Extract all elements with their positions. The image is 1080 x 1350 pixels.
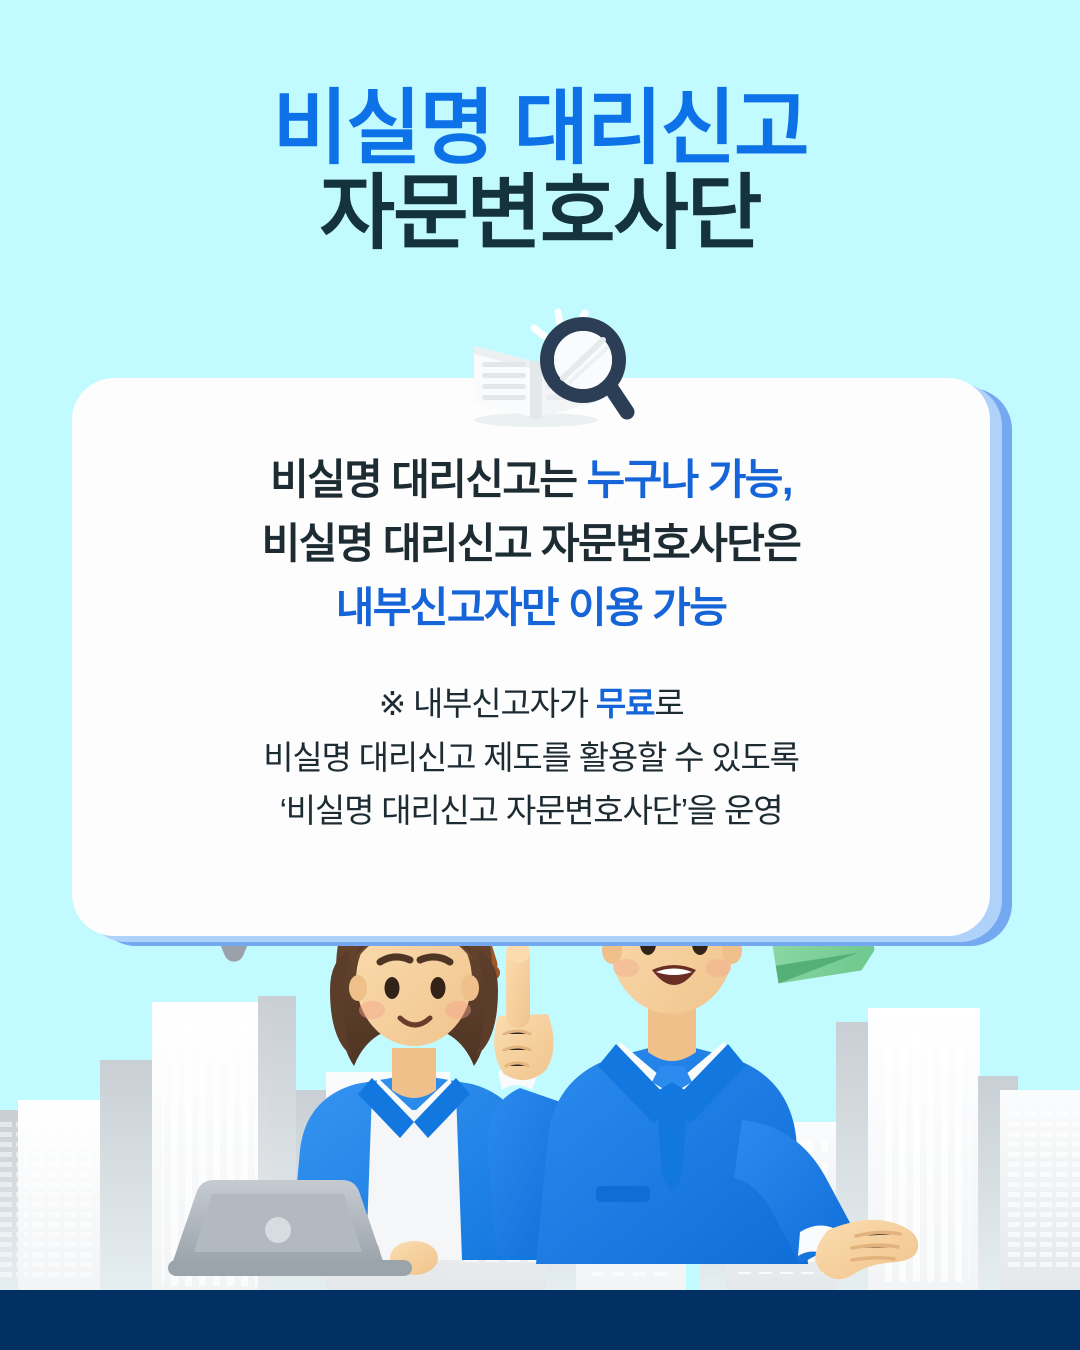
lead-line-1-plain: 비실명 대리신고는: [270, 456, 586, 503]
poster-canvas: 비실명 대리신고 자문변호사단: [0, 0, 1080, 1350]
card-note-text: ※ 내부신고자가 무료로 비실명 대리신고 제도를 활용할 수 있도록 ‘비실명…: [263, 677, 799, 837]
note-line-1-post: 로: [654, 685, 683, 722]
note-line-2: 비실명 대리신고 제도를 활용할 수 있도록: [263, 731, 799, 784]
bottom-navy-bar: [0, 1290, 1080, 1350]
note-line-1-accent: 무료: [596, 685, 654, 722]
lead-line-1: 비실명 대리신고는 누구나 가능,: [262, 448, 801, 512]
note-line-1: ※ 내부신고자가 무료로: [263, 677, 799, 730]
book-magnifier-icon: [452, 300, 648, 430]
note-line-1-pre: ※ 내부신고자가: [379, 685, 596, 722]
note-line-3: ‘비실명 대리신고 자문변호사단’을 운영: [263, 784, 799, 837]
info-card-wrapper: 비실명 대리신고는 누구나 가능, 비실명 대리신고 자문변호사단은 내부신고자…: [72, 378, 1012, 946]
title-line-1: 비실명 대리신고: [0, 88, 1080, 169]
lead-line-3: 내부신고자만 이용 가능: [262, 576, 801, 640]
info-card: 비실명 대리신고는 누구나 가능, 비실명 대리신고 자문변호사단은 내부신고자…: [72, 378, 990, 936]
lead-line-2: 비실명 대리신고 자문변호사단은: [262, 512, 801, 576]
card-lead-text: 비실명 대리신고는 누구나 가능, 비실명 대리신고 자문변호사단은 내부신고자…: [262, 448, 801, 639]
title-line-2: 자문변호사단: [0, 173, 1080, 254]
page-title: 비실명 대리신고 자문변호사단: [0, 88, 1080, 254]
lead-line-1-accent: 누구나 가능,: [587, 456, 792, 503]
